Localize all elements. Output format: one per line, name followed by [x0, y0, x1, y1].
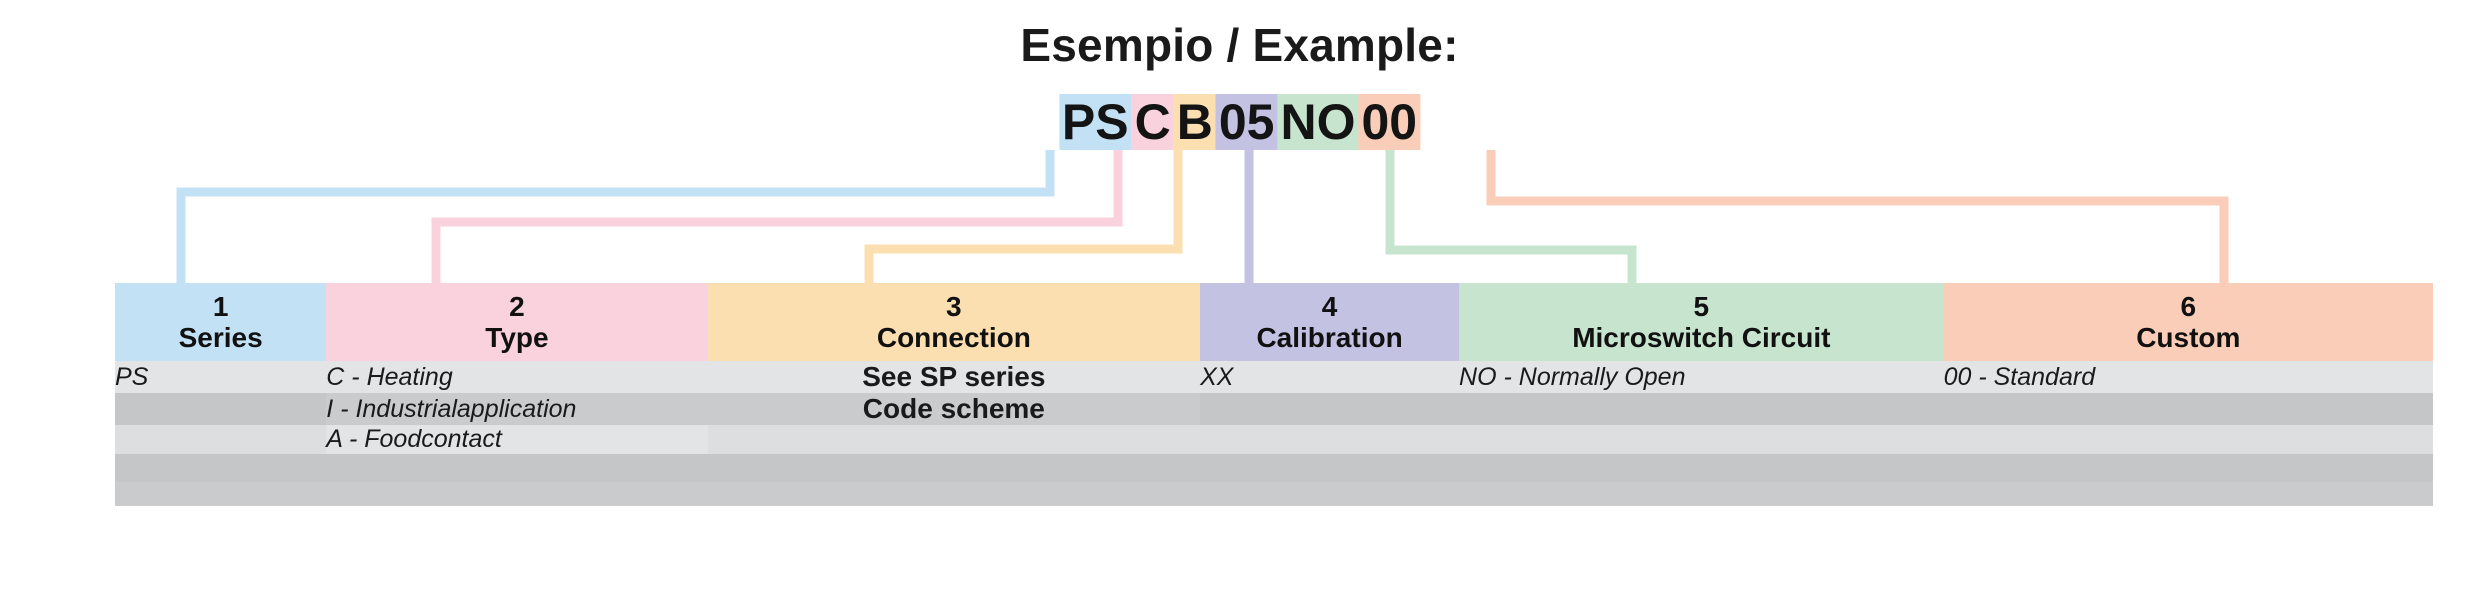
column-number: 4: [1200, 291, 1459, 322]
connector-type: [436, 150, 1118, 283]
table-cell: XX: [1200, 361, 1459, 393]
table-cell-empty: [1459, 454, 1944, 482]
table-cell: See SP series: [708, 361, 1201, 393]
table-row: A - Foodcontact: [115, 425, 2433, 454]
table-bottom-strip: [115, 482, 2433, 506]
table-cell: 00 - Standard: [1944, 361, 2433, 393]
column-number: 5: [1459, 291, 1944, 322]
column-number: 6: [1944, 291, 2433, 322]
table-cell-empty: [1459, 393, 1944, 425]
table-cell-empty: [1459, 482, 1944, 506]
table-cell-empty: [1200, 454, 1459, 482]
column-header-custom: 6Custom: [1944, 283, 2433, 361]
table-cell-empty: [1459, 425, 1944, 454]
column-label: Custom: [1944, 322, 2433, 353]
column-header-microswitch-circuit: 5Microswitch Circuit: [1459, 283, 1944, 361]
table-cell-empty: [1944, 425, 2433, 454]
table-cell: C - Heating: [326, 361, 707, 393]
table-cell: A - Foodcontact: [326, 425, 707, 454]
code-scheme-table: 1Series2Type3Connection4Calibration5Micr…: [115, 283, 2433, 506]
table-cell: I - Industrialapplication: [326, 393, 707, 425]
column-number: 1: [115, 291, 326, 322]
table-cell-empty: [1200, 482, 1459, 506]
column-header-connection: 3Connection: [708, 283, 1201, 361]
table-cell-empty: [708, 425, 1201, 454]
table-cell-empty: [1200, 425, 1459, 454]
table-cell-empty: [1200, 393, 1459, 425]
table-cell: Code scheme: [708, 393, 1201, 425]
table-header-row: 1Series2Type3Connection4Calibration5Micr…: [115, 283, 2433, 361]
connector-custom: [1491, 150, 2224, 283]
table-body: PSC - HeatingSee SP seriesXXNO - Normall…: [115, 361, 2433, 506]
table-cell-empty: [115, 454, 326, 482]
table-row: PSC - HeatingSee SP seriesXXNO - Normall…: [115, 361, 2433, 393]
table-cell-empty: [1944, 393, 2433, 425]
column-header-calibration: 4Calibration: [1200, 283, 1459, 361]
table-row: [115, 454, 2433, 482]
column-label: Microswitch Circuit: [1459, 322, 1944, 353]
table-cell-empty: [708, 482, 1201, 506]
table-cell-empty: [708, 454, 1201, 482]
table-cell-empty: [326, 454, 707, 482]
column-label: Connection: [708, 322, 1201, 353]
table-head: 1Series2Type3Connection4Calibration5Micr…: [115, 283, 2433, 361]
column-header-series: 1Series: [115, 283, 326, 361]
column-number: 3: [708, 291, 1201, 322]
column-number: 2: [326, 291, 707, 322]
column-label: Calibration: [1200, 322, 1459, 353]
column-header-type: 2Type: [326, 283, 707, 361]
column-label: Series: [115, 322, 326, 353]
table-cell: NO - Normally Open: [1459, 361, 1944, 393]
table-cell-empty: [326, 482, 707, 506]
connector-microswitch: [1390, 150, 1632, 283]
connector-series: [181, 150, 1050, 283]
table-cell: PS: [115, 361, 326, 393]
table-row: I - IndustrialapplicationCode scheme: [115, 393, 2433, 425]
table-cell-empty: [115, 482, 326, 506]
table-cell-empty: [1944, 454, 2433, 482]
table-cell-empty: [115, 425, 326, 454]
table-cell-empty: [115, 393, 326, 425]
table-cell-empty: [1944, 482, 2433, 506]
diagram-root: Esempio / Example: PSCB05NO00 1Series2Ty…: [0, 0, 2479, 598]
connector-connection: [869, 150, 1178, 283]
column-label: Type: [326, 322, 707, 353]
